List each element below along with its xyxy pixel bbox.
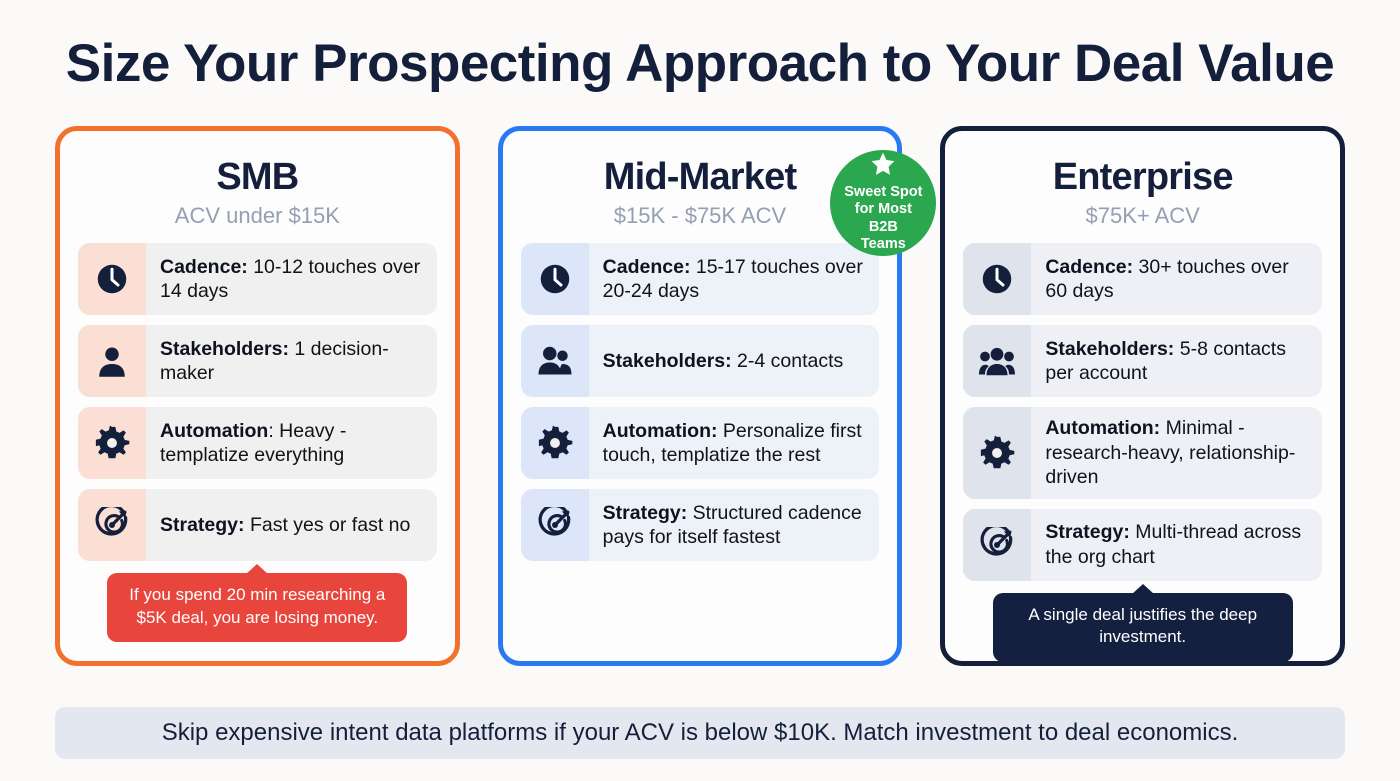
feature-row: Stakeholders: 5-8 contacts per account <box>963 325 1322 397</box>
badge-line-1: Sweet Spot <box>844 184 922 201</box>
badge-line-2: for Most B2B <box>838 201 928 236</box>
card-mid-market: Sweet Spot for Most B2B Teams Mid-Market… <box>498 126 903 666</box>
feature-row-label: Stakeholders: <box>1045 338 1174 360</box>
sweet-spot-badge: Sweet Spot for Most B2B Teams <box>830 150 936 256</box>
card-title-smb: SMB <box>78 157 437 199</box>
feature-row-label: Strategy: <box>160 514 245 536</box>
feature-row-label: Automation: <box>603 420 718 442</box>
feature-row-text: Cadence: 30+ touches over 60 days <box>1031 243 1322 315</box>
target-arrow-icon <box>963 509 1031 581</box>
gear-icon <box>963 407 1031 499</box>
card-subtitle-smb: ACV under $15K <box>78 203 437 229</box>
card-title-enterprise: Enterprise <box>963 157 1322 199</box>
feature-row-label: Strategy: <box>603 502 688 524</box>
feature-row: Strategy: Structured cadence pays for it… <box>521 489 880 561</box>
feature-row-text: Strategy: Structured cadence pays for it… <box>589 489 880 561</box>
card-header-enterprise: Enterprise $75K+ ACV <box>963 151 1322 243</box>
target-arrow-icon <box>521 489 589 561</box>
card-title-mid-market: Mid-Market <box>521 157 880 199</box>
two-people-icon <box>521 325 589 397</box>
feature-row-label: Cadence: <box>160 256 248 278</box>
card-row: SMB ACV under $15K Cadence: 10-12 touche… <box>55 126 1345 666</box>
feature-rows-mid-market: Cadence: 15-17 touches over 20-24 days S… <box>521 243 880 561</box>
feature-row-label: Stakeholders: <box>160 338 289 360</box>
feature-row: Cadence: 30+ touches over 60 days <box>963 243 1322 315</box>
card-subtitle-mid-market: $15K - $75K ACV <box>521 203 880 229</box>
feature-row-text: Strategy: Multi-thread across the org ch… <box>1031 509 1322 581</box>
feature-row-value: 2-4 contacts <box>732 350 844 372</box>
feature-row-label: Cadence: <box>603 256 691 278</box>
feature-row-text: Cadence: 15-17 touches over 20-24 days <box>589 243 880 315</box>
clock-icon <box>521 243 589 315</box>
feature-row: Automation: Heavy - templatize everythin… <box>78 407 437 479</box>
clock-icon <box>963 243 1031 315</box>
badge-line-3: Teams <box>861 236 906 253</box>
feature-row-text: Strategy: Fast yes or fast no <box>146 489 437 561</box>
feature-row-text: Automation: Personalize first touch, tem… <box>589 407 880 479</box>
feature-row-label: Cadence: <box>1045 256 1133 278</box>
feature-row-label: Automation: <box>1045 417 1160 439</box>
feature-row: Cadence: 10-12 touches over 14 days <box>78 243 437 315</box>
person-icon <box>78 325 146 397</box>
feature-row-label: Strategy: <box>1045 521 1130 543</box>
card-enterprise: Enterprise $75K+ ACV Cadence: 30+ touche… <box>940 126 1345 666</box>
feature-row-text: Automation: Heavy - templatize everythin… <box>146 407 437 479</box>
gear-icon <box>78 407 146 479</box>
feature-row: Stakeholders: 2-4 contacts <box>521 325 880 397</box>
feature-rows-smb: Cadence: 10-12 touches over 14 days Stak… <box>78 243 437 561</box>
callout-wrap-smb: If you spend 20 min researching a $5K de… <box>78 561 437 648</box>
feature-row: Stakeholders: 1 decision-maker <box>78 325 437 397</box>
feature-row: Cadence: 15-17 touches over 20-24 days <box>521 243 880 315</box>
feature-row-label: Automation <box>160 420 268 442</box>
card-header-mid-market: Mid-Market $15K - $75K ACV <box>521 151 880 243</box>
card-smb: SMB ACV under $15K Cadence: 10-12 touche… <box>55 126 460 666</box>
callout-smb: If you spend 20 min researching a $5K de… <box>107 573 407 642</box>
target-arrow-icon <box>78 489 146 561</box>
feature-row: Automation: Personalize first touch, tem… <box>521 407 880 479</box>
callout-wrap-mid-market <box>521 627 880 645</box>
feature-row-text: Stakeholders: 2-4 contacts <box>589 325 880 397</box>
feature-row: Strategy: Fast yes or fast no <box>78 489 437 561</box>
feature-row: Strategy: Multi-thread across the org ch… <box>963 509 1322 581</box>
callout-enterprise: A single deal justifies the deep investm… <box>993 593 1293 662</box>
callout-wrap-enterprise: A single deal justifies the deep investm… <box>963 581 1322 668</box>
bottom-banner-text: Skip expensive intent data platforms if … <box>162 719 1239 747</box>
gear-icon <box>521 407 589 479</box>
feature-row-text: Stakeholders: 1 decision-maker <box>146 325 437 397</box>
feature-row-label: Stakeholders: <box>603 350 732 372</box>
feature-row: Automation: Minimal - research-heavy, re… <box>963 407 1322 499</box>
feature-row-text: Cadence: 10-12 touches over 14 days <box>146 243 437 315</box>
three-people-icon <box>963 325 1031 397</box>
feature-row-value: Fast yes or fast no <box>245 514 411 536</box>
page-title: Size Your Prospecting Approach to Your D… <box>0 0 1400 92</box>
card-subtitle-enterprise: $75K+ ACV <box>963 203 1322 229</box>
feature-row-text: Stakeholders: 5-8 contacts per account <box>1031 325 1322 397</box>
card-header-smb: SMB ACV under $15K <box>78 151 437 243</box>
star-icon <box>870 151 896 184</box>
bottom-banner: Skip expensive intent data platforms if … <box>55 707 1345 759</box>
feature-rows-enterprise: Cadence: 30+ touches over 60 days St <box>963 243 1322 581</box>
clock-icon <box>78 243 146 315</box>
feature-row-text: Automation: Minimal - research-heavy, re… <box>1031 407 1322 499</box>
